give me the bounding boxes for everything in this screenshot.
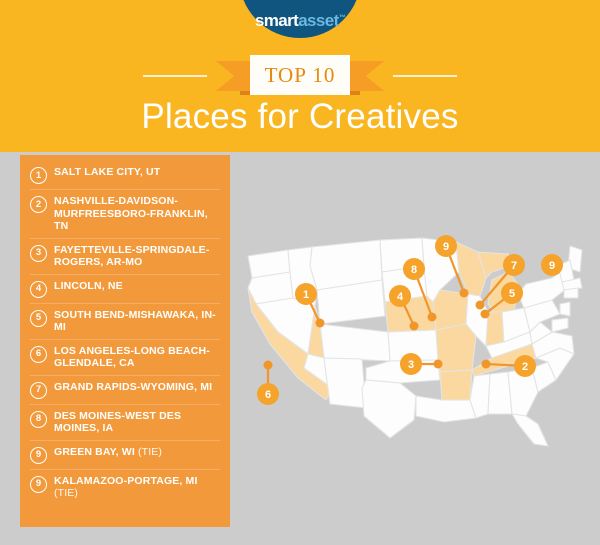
list-item-name: LINCOLN, NE — [54, 280, 123, 292]
us-map: 1 2 3 4 5 — [240, 228, 590, 458]
ribbon-rule-right — [393, 75, 457, 77]
rank-badge: 8 — [30, 411, 47, 428]
list-item-name: NASHVILLE-DAVIDSON-MURFREESBORO-FRANKLIN… — [54, 195, 208, 232]
list-item-label: DES MOINES-WEST DES MOINES, IA — [54, 410, 220, 435]
list-item[interactable]: 2 NASHVILLE-DAVIDSON-MURFREESBORO-FRANKL… — [30, 189, 220, 238]
list-item-name: GREEN BAY, WI — [54, 446, 135, 458]
list-item-label: GREEN BAY, WI (TIE) — [54, 446, 162, 459]
state-LA — [416, 396, 476, 422]
map-marker-label: 2 — [522, 361, 528, 373]
map-marker-label: 9 — [443, 241, 449, 253]
logo-smart-text: smart — [255, 11, 298, 30]
list-item-name: SOUTH BEND-MISHAWAKA, IN-MI — [54, 309, 216, 334]
list-item-label: FAYETTEVILLE-SPRINGDALE-ROGERS, AR-MO — [54, 244, 220, 269]
list-item[interactable]: 4 LINCOLN, NE — [30, 274, 220, 303]
rank-badge: 4 — [30, 281, 47, 298]
list-item-name: SALT LAKE CITY, UT — [54, 166, 160, 178]
map-marker-label: 8 — [411, 264, 417, 276]
rank-badge: 9 — [30, 447, 47, 464]
rank-badge: 1 — [30, 167, 47, 184]
map-marker-label: 5 — [509, 288, 515, 300]
list-item[interactable]: 1 SALT LAKE CITY, UT — [30, 159, 220, 189]
list-item-name: KALAMAZOO-PORTAGE, MI — [54, 475, 198, 487]
map-marker-6[interactable]: 6 — [257, 361, 279, 406]
map-marker-label: 7 — [511, 260, 517, 272]
list-item-note: (TIE) — [138, 446, 162, 458]
list-item-label: LINCOLN, NE — [54, 280, 123, 293]
map-marker-label: 1 — [303, 289, 309, 301]
logo-text: smartasset™ — [255, 11, 345, 38]
list-item-name: DES MOINES-WEST DES MOINES, IA — [54, 410, 181, 435]
state-CO — [320, 324, 390, 361]
rank-badge: 9 — [30, 476, 47, 493]
rank-badge: 6 — [30, 346, 47, 363]
list-item[interactable]: 5 SOUTH BEND-MISHAWAKA, IN-MI — [30, 303, 220, 339]
state-NJ — [560, 302, 570, 316]
state-TX — [362, 380, 416, 438]
state-IN — [486, 312, 504, 346]
top10-ribbon: TOP 10 — [0, 55, 600, 97]
list-item-name: GRAND RAPIDS-WYOMING, MI — [54, 381, 212, 393]
ribbon-badge-label: TOP 10 — [265, 63, 336, 88]
list-item-name: FAYETTEVILLE-SPRINGDALE-ROGERS, AR-MO — [54, 244, 209, 269]
map-marker-label: 3 — [408, 359, 414, 371]
map-marker-label: 6 — [265, 389, 271, 401]
list-item-label: NASHVILLE-DAVIDSON-MURFREESBORO-FRANKLIN… — [54, 195, 220, 233]
list-item-note: (TIE) — [54, 487, 78, 499]
page-title: Places for Creatives — [0, 97, 600, 137]
rank-badge: 3 — [30, 245, 47, 262]
list-item[interactable]: 9 GREEN BAY, WI (TIE) — [30, 440, 220, 469]
state-MD-DE — [552, 318, 568, 332]
state-CT-RI — [564, 288, 578, 298]
list-item-label: GRAND RAPIDS-WYOMING, MI — [54, 381, 212, 394]
state-FL — [512, 414, 548, 446]
list-item[interactable]: 7 GRAND RAPIDS-WYOMING, MI — [30, 375, 220, 404]
rank-badge: 5 — [30, 310, 47, 327]
ranking-list-panel: 1 SALT LAKE CITY, UT 2 NASHVILLE-DAVIDSO… — [20, 155, 230, 527]
list-item[interactable]: 9 KALAMAZOO-PORTAGE, MI (TIE) — [30, 469, 220, 505]
smartasset-logo[interactable]: smartasset™ — [239, 0, 361, 38]
list-item[interactable]: 8 DES MOINES-WEST DES MOINES, IA — [30, 404, 220, 440]
map-marker-label: 9 — [549, 260, 555, 272]
rank-badge: 2 — [30, 196, 47, 213]
list-item-label: KALAMAZOO-PORTAGE, MI (TIE) — [54, 475, 220, 500]
map-marker-9-kalamazoo[interactable]: 9 — [541, 254, 563, 276]
list-item-label: SALT LAKE CITY, UT — [54, 166, 160, 179]
trademark-icon: ™ — [339, 14, 345, 21]
list-item[interactable]: 6 LOS ANGELES-LONG BEACH-GLENDALE, CA — [30, 339, 220, 375]
ribbon-badge: TOP 10 — [250, 55, 350, 95]
state-WI — [456, 242, 486, 296]
ribbon-rule-left — [143, 75, 207, 77]
header-banner: smartasset™ TOP 10 Places for Creatives — [0, 0, 600, 152]
list-item-label: SOUTH BEND-MISHAWAKA, IN-MI — [54, 309, 220, 334]
list-item-label: LOS ANGELES-LONG BEACH-GLENDALE, CA — [54, 345, 220, 370]
list-item-name: LOS ANGELES-LONG BEACH-GLENDALE, CA — [54, 345, 210, 370]
logo-asset-text: asset — [298, 11, 338, 30]
state-NM — [324, 358, 366, 408]
rank-badge: 7 — [30, 382, 47, 399]
state-AR — [440, 370, 472, 400]
map-marker-label: 4 — [397, 291, 404, 303]
list-item[interactable]: 3 FAYETTEVILLE-SPRINGDALE-ROGERS, AR-MO — [30, 238, 220, 274]
